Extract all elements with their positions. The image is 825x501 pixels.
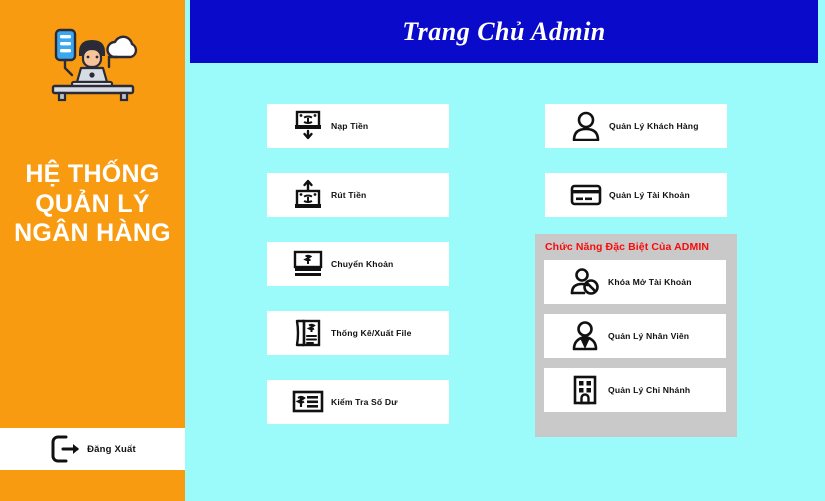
credit-card-icon [563,183,609,207]
menu-item-label: Khóa Mở Tài Khoản [608,277,692,287]
report-file-icon [285,318,331,348]
logout-button[interactable]: Đăng Xuất [0,428,185,470]
menu-item-account-management[interactable]: Quản Lý Tài Khoản [545,173,727,217]
right-menu-column: Quản Lý Khách Hàng Quản Lý Tài Khoản [545,104,727,242]
menu-item-employee-management[interactable]: Quản Lý Nhân Viên [544,314,726,358]
employee-icon [562,321,608,351]
menu-item-transfer[interactable]: Chuyển Khoản [267,242,449,286]
menu-item-label: Quản Lý Tài Khoản [609,190,690,200]
logout-icon [49,434,83,464]
user-block-icon [562,268,608,296]
menu-item-lock-unlock-account[interactable]: Khóa Mở Tài Khoản [544,260,726,304]
withdraw-money-icon [285,179,331,211]
menu-item-branch-management[interactable]: Quản Lý Chi Nhánh [544,368,726,412]
menu-item-label: Rút Tiền [331,190,366,200]
menu-item-label: Kiểm Tra Số Dư [331,397,398,407]
main-content: Trang Chủ Admin Nạp Tiền [185,0,825,501]
sidebar: HỆ THỐNG QUẢN LÝ NGÂN HÀNG Đăng Xuất [0,0,185,501]
admin-panel-title: Chức Năng Đặc Biệt Của ADMIN [545,241,728,253]
menu-item-deposit[interactable]: Nạp Tiền [267,104,449,148]
admin-special-functions-panel: Chức Năng Đặc Biệt Của ADMIN Khóa Mở Tài… [535,234,737,437]
page-title: HỆ THỐNG QUẢN LÝ NGÂN HÀNG [13,160,173,249]
menu-item-label: Thống Kê/Xuất File [331,328,412,338]
menu-item-label: Quản Lý Khách Hàng [609,121,699,131]
menu-item-label: Nạp Tiền [331,121,368,131]
menu-item-label: Chuyển Khoản [331,259,393,269]
menu-item-check-balance[interactable]: Kiểm Tra Số Dư [267,380,449,424]
banknotes-icon [285,250,331,278]
deposit-money-icon [285,110,331,142]
developer-at-laptop-illustration [41,22,145,104]
menu-item-customer-management[interactable]: Quản Lý Khách Hàng [545,104,727,148]
logout-label: Đăng Xuất [87,444,136,455]
check-balance-icon [285,389,331,415]
page-header: Trang Chủ Admin [190,0,818,63]
menu-item-label: Quản Lý Nhân Viên [608,331,689,341]
branch-building-icon [562,375,608,405]
header-title: Trang Chủ Admin [402,17,606,47]
menu-item-label: Quản Lý Chi Nhánh [608,385,690,395]
admin-home-page: HỆ THỐNG QUẢN LÝ NGÂN HÀNG Đăng Xuất Tra… [0,0,825,501]
customer-person-icon [563,111,609,141]
menu-item-statistics-export[interactable]: Thống Kê/Xuất File [267,311,449,355]
menu-item-withdraw[interactable]: Rút Tiền [267,173,449,217]
left-menu-column: Nạp Tiền Rút Tiền [267,104,449,449]
